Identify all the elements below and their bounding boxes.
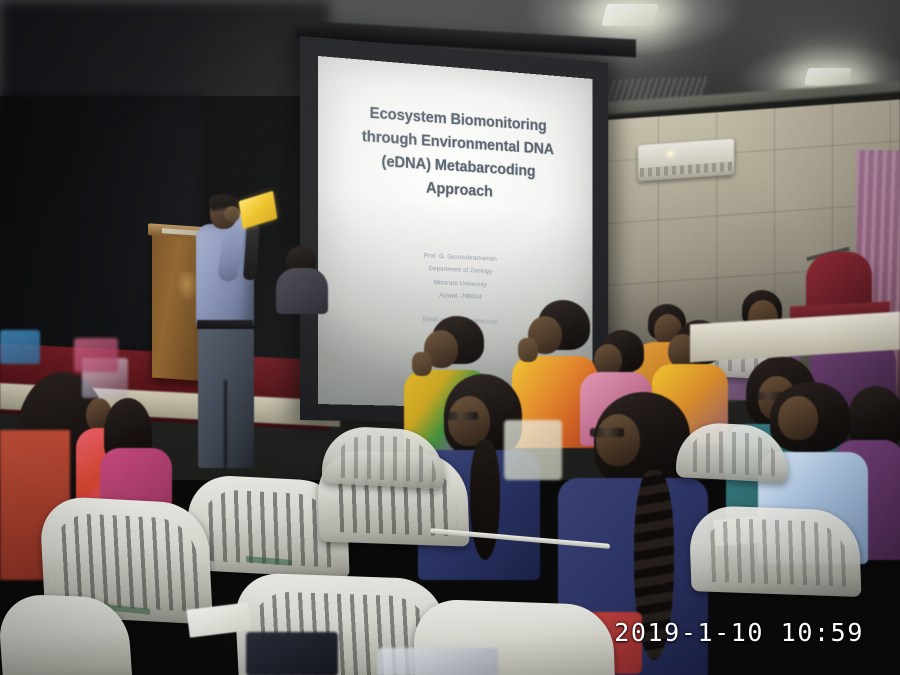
floor-papers-2[interactable]: [378, 648, 498, 675]
ac-unit-indicator-icon: [668, 152, 673, 156]
head: [448, 396, 490, 446]
glasses-icon: [444, 412, 478, 420]
slide-subtitle-block: Prof. G. GurusubramanianDepartment of Zo…: [346, 245, 571, 308]
presenter-belt: [197, 320, 253, 329]
glasses-icon: [590, 428, 624, 437]
pink-item-left: [74, 338, 118, 372]
head: [596, 414, 640, 466]
presenter-leg-separation: [224, 380, 227, 468]
presenter-hand: [224, 206, 240, 222]
slide-title: Ecosystem Biomonitoringthrough Environme…: [334, 99, 580, 209]
floor-bag[interactable]: [246, 632, 338, 675]
chair-right-foreground-slats: [701, 517, 849, 586]
white-bag-centre: [504, 420, 562, 480]
braid: [470, 440, 500, 560]
podium-emblem-icon: [176, 271, 198, 303]
head: [778, 396, 818, 440]
camera-timestamp: 2019-1-10 10:59: [614, 618, 864, 647]
ceiling-lamp-icon-left: [601, 4, 658, 26]
torso: [276, 268, 328, 314]
hair: [848, 386, 900, 448]
hand: [518, 338, 538, 362]
photograph-canvas: Ecosystem Biomonitoringthrough Environme…: [0, 0, 900, 675]
chair-foreground-1-slats: [199, 488, 337, 567]
ceiling-lamp-icon-right: [804, 68, 852, 85]
blue-item-left: [0, 330, 40, 364]
hand: [412, 352, 432, 376]
